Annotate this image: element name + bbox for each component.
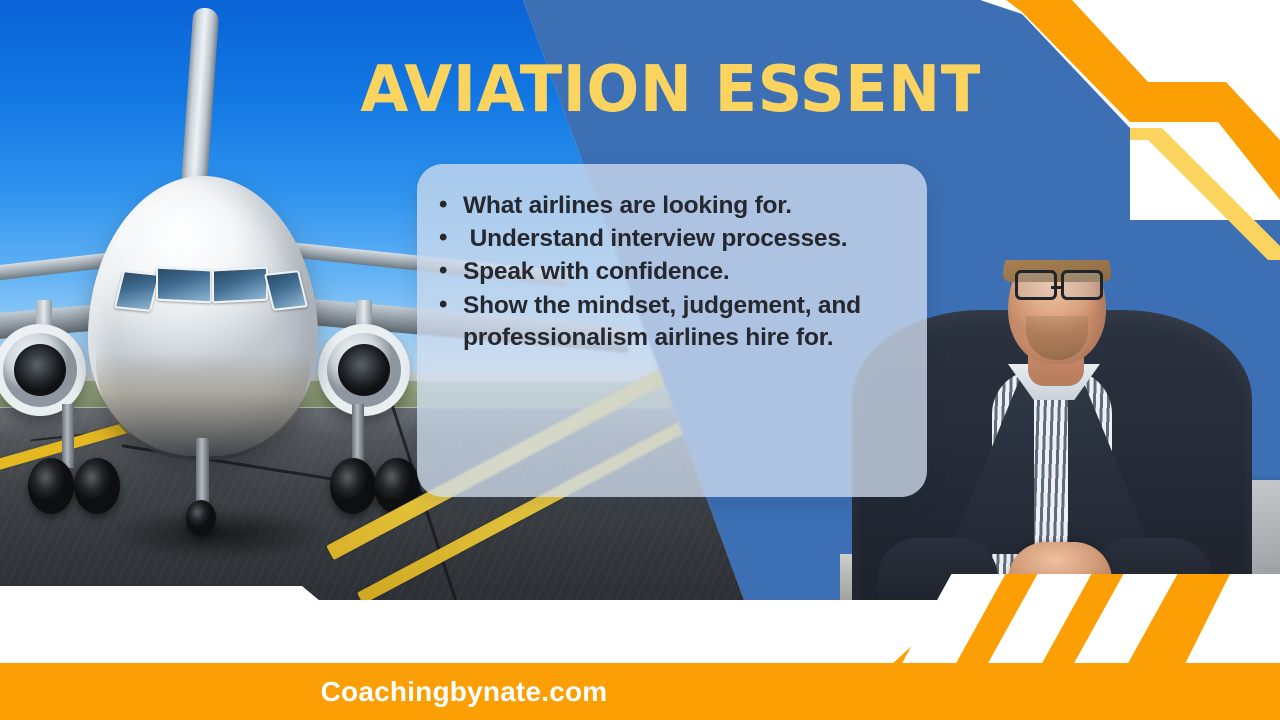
glasses-lens-left bbox=[1015, 270, 1057, 300]
engine-right bbox=[318, 324, 410, 416]
list-item: What airlines are looking for. bbox=[463, 190, 909, 222]
list-item: Speak with confidence. bbox=[463, 256, 909, 288]
tire bbox=[74, 458, 120, 514]
list-item: Show the mindset, judgement, and profess… bbox=[463, 290, 909, 354]
bullet-list: What airlines are looking for. Understan… bbox=[417, 164, 927, 354]
nose-gear-strut bbox=[196, 438, 209, 508]
aircraft-ground-shadow bbox=[70, 498, 370, 570]
tire bbox=[330, 458, 376, 514]
tire bbox=[28, 458, 74, 514]
page-title: AVIATION ESSENTIALS bbox=[360, 58, 1030, 122]
glasses-lens-right bbox=[1061, 270, 1103, 300]
engine-left bbox=[0, 324, 86, 416]
tire bbox=[186, 500, 216, 536]
engine-intake bbox=[338, 344, 390, 396]
glasses-bridge bbox=[1051, 286, 1063, 289]
engine-intake bbox=[14, 344, 66, 396]
footer-bar: Coachingbynate.com bbox=[0, 663, 1280, 720]
main-gear-left-strut bbox=[62, 404, 74, 468]
list-item: Understand interview processes. bbox=[463, 223, 909, 255]
cockpit-window bbox=[156, 267, 212, 304]
bullet-card: What airlines are looking for. Understan… bbox=[417, 164, 927, 497]
website-label: Coachingbynate.com bbox=[0, 663, 1104, 720]
cockpit-window bbox=[212, 267, 268, 304]
slide-canvas: What airlines are looking for. Understan… bbox=[0, 0, 1280, 720]
